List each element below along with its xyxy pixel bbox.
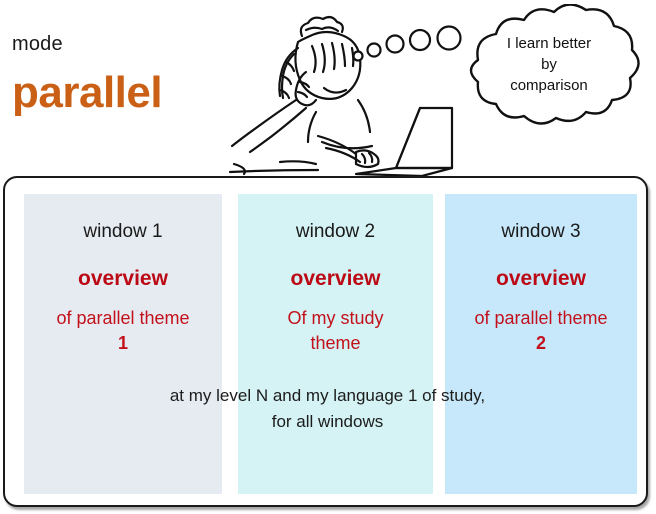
window-panel-2-desc-number: theme xyxy=(310,333,360,353)
window-panel-1[interactable]: window 1 overview of parallel theme 1 xyxy=(24,194,222,494)
window-panel-3-desc-text: of parallel theme xyxy=(474,308,607,328)
window-panel-2-title: window 2 xyxy=(238,220,433,244)
window-panel-3-overview: overview xyxy=(445,266,637,292)
thought-bubble-line-1: I learn better xyxy=(466,33,632,54)
mode-label: mode xyxy=(12,33,63,56)
window-panel-1-desc-text: of parallel theme xyxy=(56,308,189,328)
window-panel-1-description: of parallel theme 1 xyxy=(24,306,222,356)
window-panel-3-desc-number: 2 xyxy=(536,333,546,353)
mode-value: parallel xyxy=(12,68,162,118)
window-panel-3[interactable]: window 3 overview of parallel theme 2 xyxy=(445,194,637,494)
window-panel-3-description: of parallel theme 2 xyxy=(445,306,637,356)
thought-bubble-line-3: comparison xyxy=(466,75,632,96)
window-panel-2-description: Of my study theme xyxy=(238,306,433,356)
window-panel-3-title: window 3 xyxy=(445,220,637,244)
window-panel-1-overview: overview xyxy=(24,266,222,292)
window-panel-2-overview: overview xyxy=(238,266,433,292)
thought-bubble-text: I learn better by comparison xyxy=(466,33,632,96)
thought-bubble-line-2: by xyxy=(466,54,632,75)
window-panel-2-desc-text: Of my study xyxy=(287,308,383,328)
window-panel-2[interactable]: window 2 overview Of my study theme xyxy=(238,194,433,494)
header: mode parallel xyxy=(0,0,656,177)
windows-box: window 1 overview of parallel theme 1 wi… xyxy=(3,176,648,507)
window-panel-1-title: window 1 xyxy=(24,220,222,244)
window-panel-1-desc-number: 1 xyxy=(118,333,128,353)
